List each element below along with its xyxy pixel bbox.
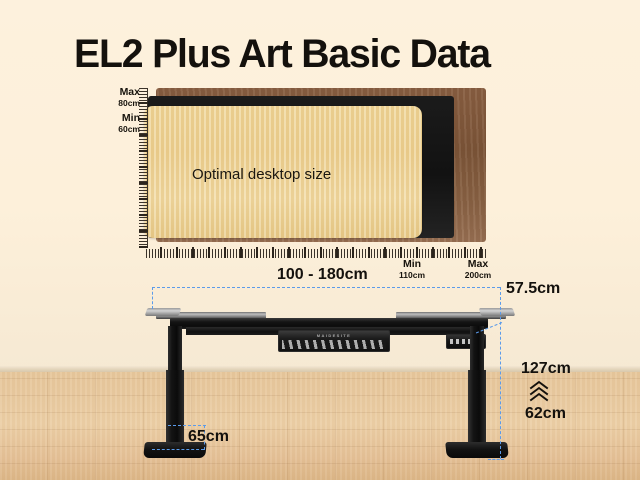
dimension-width-label: 100 - 180cm <box>277 266 368 284</box>
horizontal-min-value: 110cm <box>390 271 434 281</box>
optimal-desktop-size-label: Optimal desktop size <box>192 166 331 183</box>
dimension-foot-depth-label: 65cm <box>188 428 229 446</box>
guide-width-left-tick <box>152 287 153 309</box>
horizontal-max-label: Max 200cm <box>456 259 500 280</box>
dimension-height-max-label: 127cm <box>521 360 571 378</box>
vertical-min-value: 60cm <box>104 125 140 135</box>
guide-height-bottom-tick <box>488 459 504 460</box>
infographic-canvas: EL2 Plus Art Basic Data Optimal desktop … <box>0 0 640 480</box>
bamboo-desktop-layer: Optimal desktop size <box>144 106 422 238</box>
tray-brand-label: MAIDESITE <box>279 333 389 338</box>
page-title: EL2 Plus Art Basic Data <box>74 34 490 74</box>
leg-left-lower-segment <box>166 370 184 452</box>
guide-width-top <box>152 287 500 288</box>
chevrons-up-icon <box>528 380 550 402</box>
horizontal-min-text: Min <box>390 259 434 271</box>
desktop-size-diagram: Optimal desktop size <box>144 88 486 248</box>
cable-tray: MAIDESITE <box>278 330 390 352</box>
mount-plate-left <box>145 308 182 316</box>
mount-plate-right <box>479 308 516 316</box>
guide-height-right <box>500 287 501 459</box>
vertical-max-label: Max 80cm <box>104 87 140 108</box>
horizontal-max-value: 200cm <box>456 271 500 281</box>
tray-slots <box>282 340 386 349</box>
dimension-height-min-label: 62cm <box>525 405 566 423</box>
leg-left-upper-segment <box>168 326 182 372</box>
vertical-min-text: Min <box>104 113 140 125</box>
vertical-ruler-major-ticks <box>139 88 148 248</box>
dimension-depth-label: 57.5cm <box>506 280 560 298</box>
horizontal-ruler-major-ticks <box>146 247 488 258</box>
leg-left <box>166 326 184 448</box>
vertical-min-label: Min 60cm <box>104 113 140 134</box>
vertical-max-text: Max <box>104 87 140 99</box>
leg-right <box>468 326 486 448</box>
leg-right-lower-segment <box>468 370 486 452</box>
vertical-max-value: 80cm <box>104 99 140 109</box>
guide-foot-depth-bottom <box>152 449 204 450</box>
guide-foot-depth-top <box>168 425 206 426</box>
horizontal-min-label: Min 110cm <box>390 259 434 280</box>
horizontal-max-text: Max <box>456 259 500 271</box>
